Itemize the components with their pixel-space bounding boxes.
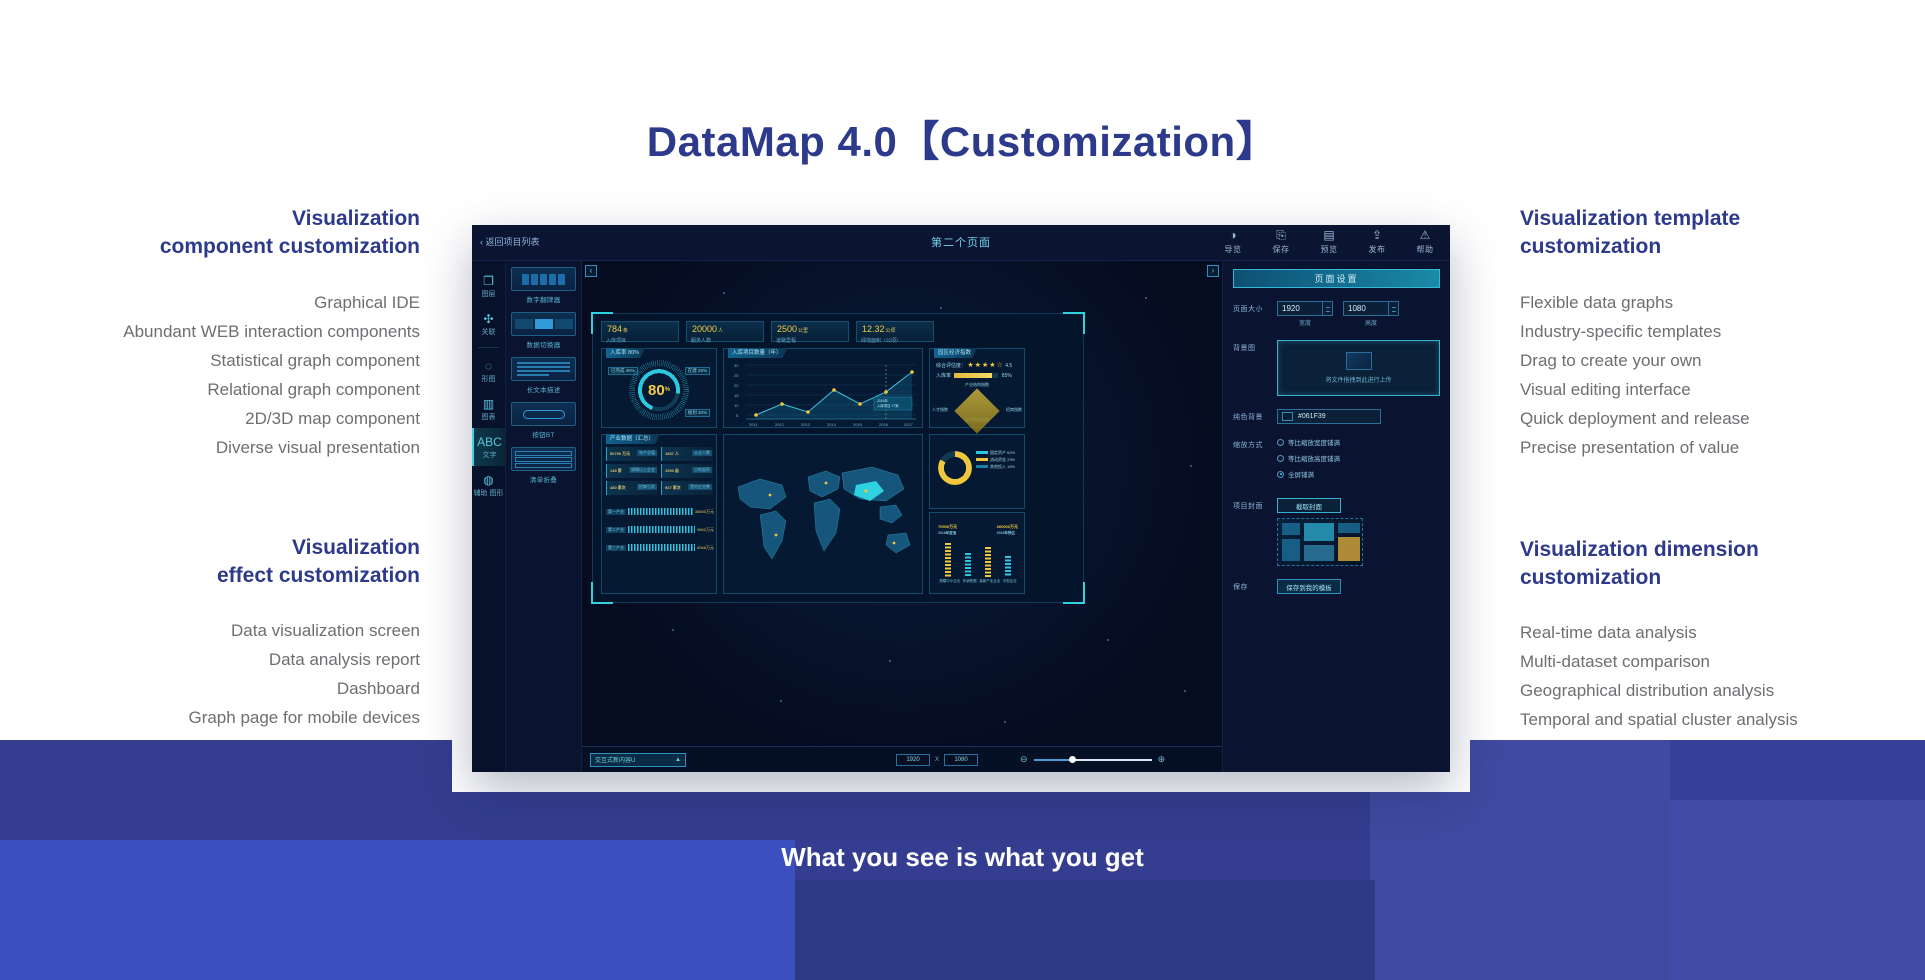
map-widget[interactable] (723, 434, 923, 594)
list-item: Graphical IDE (20, 288, 420, 317)
rail-item-layers[interactable]: ❐ 图层 (472, 267, 505, 305)
list-item: Abundant WEB interaction components (20, 317, 420, 346)
left-heading-2: Visualization effect customization (20, 534, 420, 591)
collapse-left-panel-button[interactable]: ‹ (585, 265, 597, 277)
zoom-out-icon[interactable]: ⊖ (1020, 754, 1028, 765)
list-item: Data analysis report (20, 645, 420, 674)
collapse-list-thumb (511, 447, 576, 471)
publish-icon: ⇪ (1360, 228, 1394, 242)
stat-box: 1837人 从业人数 (661, 447, 713, 461)
svg-text:2014: 2014 (827, 422, 837, 427)
corner-bracket (1063, 312, 1085, 334)
datamap-editor-window: ‹ 返回项目列表 第二个页面 ◑ 导览 ⎘ 保存 ▤ 预览 ⇪ 发布 ⚠ 帮助 (472, 225, 1450, 772)
scale-option-width[interactable]: 等比缩放宽度铺满 (1277, 437, 1440, 447)
svg-text:2011: 2011 (749, 422, 758, 427)
guide-button[interactable]: ◑ 导览 (1216, 228, 1250, 255)
properties-panel-title: 页面设置 (1233, 269, 1440, 288)
right-list-1: Flexible data graphs Industry-specific t… (1520, 288, 1920, 462)
layer-select[interactable]: 交互式新内容U ▲ (590, 753, 686, 767)
world-map-svg (730, 449, 918, 581)
background-image-uploader[interactable]: 将文件拖拽到此进行上传 (1277, 340, 1440, 396)
list-item: Statistical graph component (20, 346, 420, 375)
list-item: Drag to create your own (1520, 346, 1920, 375)
kpi-row: 784条 入库项目 20000人 服务人数 2500公里 道路里程 12.32公… (601, 321, 934, 342)
stat-box: 148家 规模以上企业 (606, 464, 658, 478)
svg-text:2015: 2015 (853, 422, 863, 427)
rail-item-text[interactable]: ABC 文字 (472, 428, 505, 466)
preview-icon: ▤ (1312, 228, 1346, 242)
donut-ring (938, 451, 972, 485)
canvas-width-input[interactable]: 1920 (896, 754, 930, 766)
tagline: What you see is what you get (0, 842, 1925, 873)
vertical-bars (938, 543, 1018, 577)
list-item: Visual editing interface (1520, 375, 1920, 404)
help-icon: ⚠ (1408, 228, 1442, 242)
svg-text:5: 5 (736, 413, 739, 418)
radar-polygon (954, 388, 999, 433)
radio-icon (1277, 455, 1284, 462)
kpi-card[interactable]: 784条 入库项目 (601, 321, 679, 342)
canvas-size-fields: 1920 X 1080 (896, 754, 978, 766)
svg-text:2016年: 2016年 (877, 398, 889, 403)
background-color-field[interactable]: #061F39 (1277, 409, 1381, 424)
capture-cover-button[interactable]: 截取封面 (1277, 498, 1341, 513)
kpi-card[interactable]: 2500公里 道路里程 (771, 321, 849, 342)
publish-button[interactable]: ⇪ 发布 (1360, 228, 1394, 255)
list-item: 2D/3D map component (20, 404, 420, 433)
save-icon: ⎘ (1264, 228, 1298, 242)
component-panel: 数字翻牌器 数据切换器 长文本描述 按钮BT (506, 261, 582, 772)
big-value: 70500万元 2018年度值 (938, 523, 957, 536)
line-chart-widget[interactable]: 入库项目数量（年） 302520 15105 (723, 348, 923, 428)
shape-icon: ◌ (472, 359, 505, 373)
scale-option-fullscreen[interactable]: 全屏铺满 (1277, 469, 1440, 479)
left-list-1: Graphical IDE Abundant WEB interaction c… (20, 288, 420, 462)
text-icon: ABC (474, 435, 505, 449)
svg-text:2016: 2016 (879, 422, 889, 427)
stat-box: 50700万元 年产总值 (606, 447, 658, 461)
zoom-control: ⊖ ⊕ (1020, 754, 1165, 765)
stat-bar-row: 第三产业 8946万元 (606, 543, 714, 552)
rating-row: 综合评估度： ★★★★☆ 4.5 (936, 361, 1012, 369)
guide-icon: ◑ (1216, 228, 1250, 242)
scale-mode-row: 缩放方式 等比缩放宽度铺满 等比缩放高度铺满 全屏铺满 (1233, 437, 1440, 485)
cover-thumbnail (1277, 518, 1363, 566)
ranking-bars-widget[interactable]: 70500万元 2018年度值 260000万元 2019年预估 规 (929, 512, 1025, 594)
list-item: Geographical distribution analysis (1520, 676, 1920, 705)
component-card-longtext[interactable]: 长文本描述 (511, 357, 576, 394)
list-item: Graph page for mobile devices (20, 703, 420, 732)
svg-text:2017: 2017 (904, 422, 914, 427)
number-flipper-thumb (511, 267, 576, 291)
radar-chart-widget[interactable]: 园区经济指数 综合评估度： ★★★★☆ 4.5 入库率 85% 产业结构指数 招… (929, 348, 1025, 428)
list-item: Precise presentation of value (1520, 433, 1920, 462)
list-item: Industry-specific templates (1520, 317, 1920, 346)
svg-text:25: 25 (734, 373, 739, 378)
rail-item-relation[interactable]: ✣ 关联 (472, 305, 505, 343)
component-card-flipper[interactable]: 数字翻牌器 (511, 267, 576, 304)
component-card-collapse-list[interactable]: 清单折叠 (511, 447, 576, 484)
donut-chart-widget[interactable]: 固定资产 62% 流动资金 23% 其他投入 15% (929, 434, 1025, 509)
right-heading-2: Visualization dimension customization (1520, 536, 1920, 593)
layers-icon: ❐ (472, 274, 505, 288)
stepper-icon (1388, 302, 1398, 315)
big-value: 260000万元 2019年预估 (997, 523, 1018, 536)
gauge-widget[interactable]: 入库率 80% 已完成 45% 在建 25% 规划 30% 80% (601, 348, 717, 428)
svg-text:入库项目 17家: 入库项目 17家 (877, 403, 899, 408)
editor-body: ❐ 图层 ✣ 关联 ◌ 形图 ▥ 图表 ABC 文字 ◍ 辅助 图形 (472, 261, 1450, 772)
svg-text:30: 30 (734, 363, 739, 368)
progress-row: 入库率 85% (936, 372, 1012, 379)
button-thumb (511, 402, 576, 426)
left-list-2: Data visualization screen Data analysis … (20, 616, 420, 732)
donut-legend: 固定资产 62% 流动资金 23% 其他投入 15% (976, 449, 1015, 470)
size-separator: X (935, 757, 939, 763)
stepper-icon (1322, 302, 1332, 315)
list-item: Temporal and spatial cluster analysis (1520, 705, 1920, 734)
right-list-2: Real-time data analysis Multi-dataset co… (1520, 618, 1920, 734)
list-item: Multi-dataset comparison (1520, 647, 1920, 676)
list-item: Quick deployment and release (1520, 404, 1920, 433)
svg-text:2013: 2013 (801, 422, 811, 427)
left-heading-1: Visualization component customization (20, 205, 420, 262)
right-heading-1: Visualization template customization (1520, 205, 1920, 262)
save-button[interactable]: ⎘ 保存 (1264, 228, 1298, 255)
visualization-screen[interactable]: 784条 入库项目 20000人 服务人数 2500公里 道路里程 12.32公… (592, 313, 1084, 603)
component-card-switcher[interactable]: 数据切换器 (511, 312, 576, 349)
radio-icon (1277, 471, 1284, 478)
list-item: Real-time data analysis (1520, 618, 1920, 647)
svg-text:10: 10 (734, 403, 739, 408)
left-text-column: Visualization component customization Gr… (20, 205, 420, 732)
gauge-ring: 80% (632, 363, 686, 417)
thumbnail-preview (1346, 352, 1372, 370)
collapse-right-panel-button[interactable]: › (1207, 265, 1219, 277)
save-to-my-template-button[interactable]: 保存到我的模板 (1277, 579, 1341, 594)
stat-box: 480家次 招商引资 (606, 481, 658, 495)
background-image-row: 背景图 将文件拖拽到此进行上传 (1233, 340, 1440, 396)
stat-bar-row: 第一产业 35600万元 (606, 507, 714, 516)
help-button[interactable]: ⚠ 帮助 (1408, 228, 1442, 255)
rail-item-assist-shape[interactable]: ◍ 辅助 图形 (472, 466, 505, 504)
right-text-column: Visualization template customization Fle… (1520, 205, 1920, 734)
design-canvas[interactable]: ‹ › 784条 入库项目 20000人 服务人数 (582, 261, 1222, 772)
rail-divider (478, 347, 499, 348)
vertical-bar-labels: 规模中小企业 年销售额 高新产业企业 中型企业 (938, 579, 1018, 584)
chart-icon: ▥ (472, 397, 505, 411)
list-item: Relational graph component (20, 375, 420, 404)
industry-stats-widget[interactable]: 产业数据（汇总） 50700万元 年产总值 1837人 从业人数 148家 规模 (601, 434, 717, 594)
relation-icon: ✣ (472, 312, 505, 326)
chevron-up-icon: ▲ (675, 757, 681, 763)
preview-button[interactable]: ▤ 预览 (1312, 228, 1346, 255)
assist-icon: ◍ (472, 473, 505, 487)
long-text-thumb (511, 357, 576, 381)
zoom-in-icon[interactable]: ⊕ (1158, 754, 1166, 765)
component-card-button[interactable]: 按钮BT (511, 402, 576, 439)
stat-bar-row: 第二产业 9842万元 (606, 525, 714, 534)
properties-panel: 页面设置 页面大小 1920 宽度 1080 高度 (1222, 261, 1450, 772)
color-swatch (1282, 412, 1293, 421)
zoom-slider[interactable] (1034, 759, 1152, 761)
kpi-card[interactable]: 20000人 服务人数 (686, 321, 764, 342)
editor-icon-rail: ❐ 图层 ✣ 关联 ◌ 形图 ▥ 图表 ABC 文字 ◍ 辅助 图形 (472, 261, 506, 772)
scale-option-height[interactable]: 等比缩放高度铺满 (1277, 453, 1440, 463)
topbar-tools: ◑ 导览 ⎘ 保存 ▤ 预览 ⇪ 发布 ⚠ 帮助 (1216, 228, 1442, 255)
svg-text:2012: 2012 (775, 422, 785, 427)
page-size-row: 页面大小 1920 宽度 1080 高度 (1233, 301, 1440, 327)
list-item: Flexible data graphs (1520, 288, 1920, 317)
corner-bracket (1063, 582, 1085, 604)
rail-item-chart[interactable]: ▥ 图表 (472, 390, 505, 428)
page-height-field[interactable]: 1080 高度 (1343, 301, 1399, 327)
star-icon: ★★★★☆ (967, 362, 1003, 369)
list-item: Dashboard (20, 674, 420, 703)
editor-topbar: ‹ 返回项目列表 第二个页面 ◑ 导览 ⎘ 保存 ▤ 预览 ⇪ 发布 ⚠ 帮助 (472, 225, 1450, 261)
canvas-height-input[interactable]: 1080 (944, 754, 978, 766)
line-chart-svg: 302520 15105 (724, 357, 924, 427)
kpi-card[interactable]: 12.32公顷 绿地面积（公顷） (856, 321, 934, 342)
page-title: DataMap 4.0【Customization】 (0, 108, 1925, 169)
background-color-row: 纯色背景 #061F39 (1233, 409, 1440, 424)
stat-grid: 50700万元 年产总值 1837人 从业人数 148家 规模以上企业 19 (606, 447, 714, 495)
stat-box: 1930亩 占地面积 (661, 464, 713, 478)
project-cover-row: 项目封面 截取封面 (1233, 498, 1440, 566)
zoom-slider-knob[interactable] (1069, 756, 1076, 763)
svg-text:15: 15 (734, 393, 739, 398)
save-template-row: 保存 保存到我的模板 (1233, 579, 1440, 594)
data-switcher-thumb (511, 312, 576, 336)
radio-icon (1277, 439, 1284, 446)
rail-item-shape[interactable]: ◌ 形图 (472, 352, 505, 390)
page-width-field[interactable]: 1920 宽度 (1277, 301, 1333, 327)
svg-text:20: 20 (734, 383, 739, 388)
canvas-toolbar: 交互式新内容U ▲ 1920 X 1080 ⊖ ⊕ (582, 746, 1222, 772)
list-item: Diverse visual presentation (20, 433, 420, 462)
stat-box: 927家次 签约企业数 (661, 481, 713, 495)
list-item: Data visualization screen (20, 616, 420, 645)
